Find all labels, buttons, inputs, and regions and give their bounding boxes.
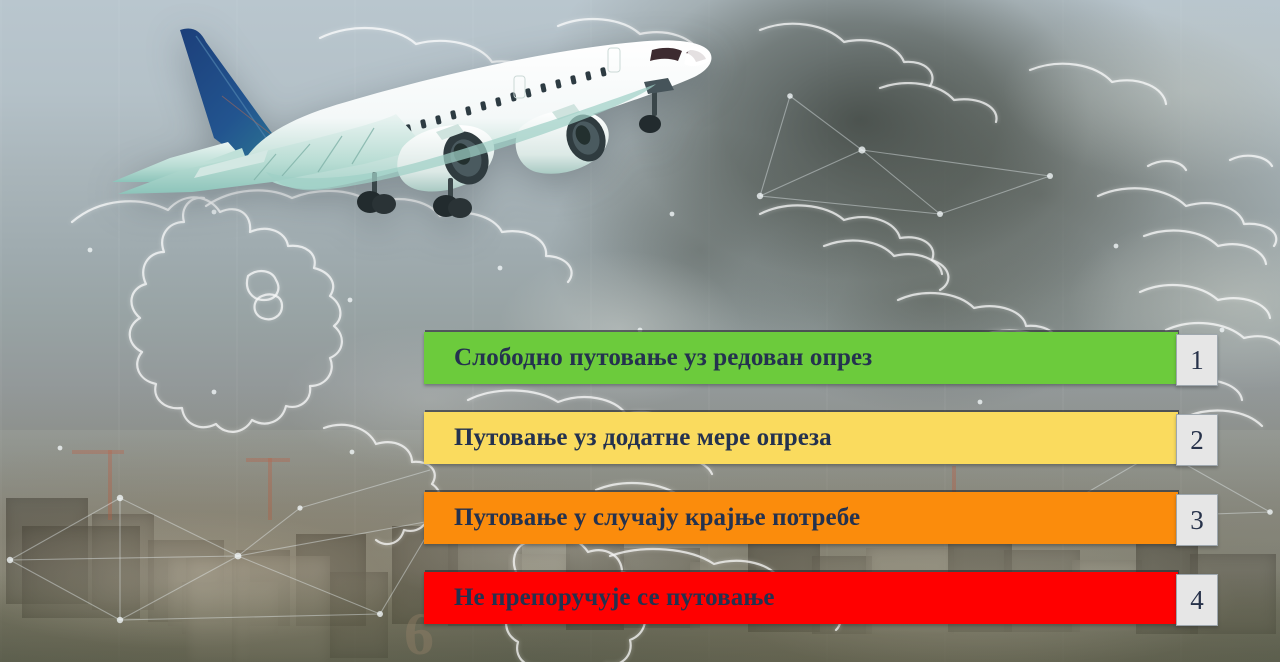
screenshot-canvas: 6 bbox=[0, 0, 1280, 662]
airplane-illustration bbox=[96, 6, 746, 232]
level-number-4: 4 bbox=[1176, 574, 1218, 626]
advisory-level-row-3[interactable]: Путовање у случају крајње потребе 3 bbox=[424, 492, 1218, 544]
level-bar-1[interactable]: Слободно путовање уз редован опрез bbox=[424, 332, 1178, 384]
advisory-level-row-4[interactable]: Не препоручује се путовање 4 bbox=[424, 572, 1218, 624]
advisory-level-row-2[interactable]: Путовање уз додатне мере опреза 2 bbox=[424, 412, 1218, 464]
level-label-2: Путовање уз додатне мере опреза bbox=[424, 424, 832, 452]
level-number-2: 2 bbox=[1176, 414, 1218, 466]
level-number-3: 3 bbox=[1176, 494, 1218, 546]
level-bar-4[interactable]: Не препоручује се путовање bbox=[424, 572, 1178, 624]
level-label-1: Слободно путовање уз редован опрез bbox=[424, 344, 872, 372]
level-label-4: Не препоручује се путовање bbox=[424, 584, 775, 612]
advisory-level-row-1[interactable]: Слободно путовање уз редован опрез 1 bbox=[424, 332, 1218, 384]
advisory-level-list: Слободно путовање уз редован опрез 1 Пут… bbox=[424, 332, 1218, 624]
level-label-3: Путовање у случају крајње потребе bbox=[424, 504, 860, 532]
level-number-1: 1 bbox=[1176, 334, 1218, 386]
level-bar-3[interactable]: Путовање у случају крајње потребе bbox=[424, 492, 1178, 544]
level-bar-2[interactable]: Путовање уз додатне мере опреза bbox=[424, 412, 1178, 464]
